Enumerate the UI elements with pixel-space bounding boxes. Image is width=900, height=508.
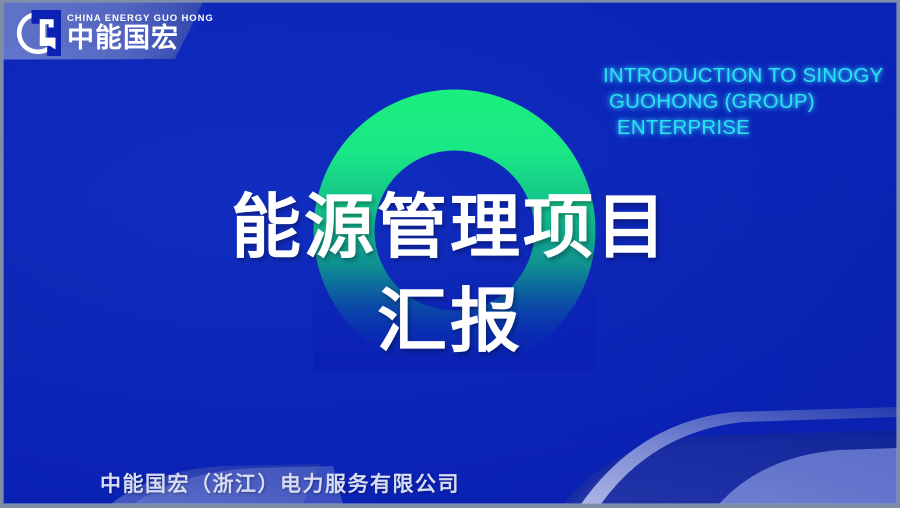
swoosh-shape-2 — [563, 430, 897, 504]
english-subtitle-line-2: GUOHONG (GROUP) — [603, 89, 897, 115]
logo-chinese-name: 中能国宏 — [67, 25, 214, 52]
swoosh-shape-3 — [719, 448, 897, 504]
page-title: 能源管理项目 汇报 — [3, 180, 897, 368]
logo-english-name: CHINA ENERGY GUO HONG — [67, 14, 214, 24]
swoosh-shape-1 — [523, 436, 897, 504]
english-subtitle: INTRODUCTION TO SINOGY GUOHONG (GROUP) E… — [603, 63, 897, 141]
english-subtitle-line-3: ENTERPRISE — [603, 115, 897, 141]
brand-logo[interactable]: CHINA ENERGY GUO HONG 中能国宏 — [15, 8, 205, 58]
swoosh-highlight-stripe — [581, 407, 897, 504]
english-subtitle-line-1: INTRODUCTION TO SINOGY — [603, 63, 897, 89]
circular-g-monogram-icon — [15, 10, 61, 56]
footer-company-name: 中能国宏（浙江）电力服务有限公司 — [100, 468, 460, 498]
logo-text-block: CHINA ENERGY GUO HONG 中能国宏 — [67, 14, 214, 53]
slide-frame: CHINA ENERGY GUO HONG 中能国宏 INTRODUCTION … — [0, 0, 900, 508]
page-title-line-1: 能源管理项目 — [231, 186, 669, 268]
slide-canvas: CHINA ENERGY GUO HONG 中能国宏 INTRODUCTION … — [3, 2, 897, 504]
page-title-line-2: 汇报 — [3, 274, 897, 368]
